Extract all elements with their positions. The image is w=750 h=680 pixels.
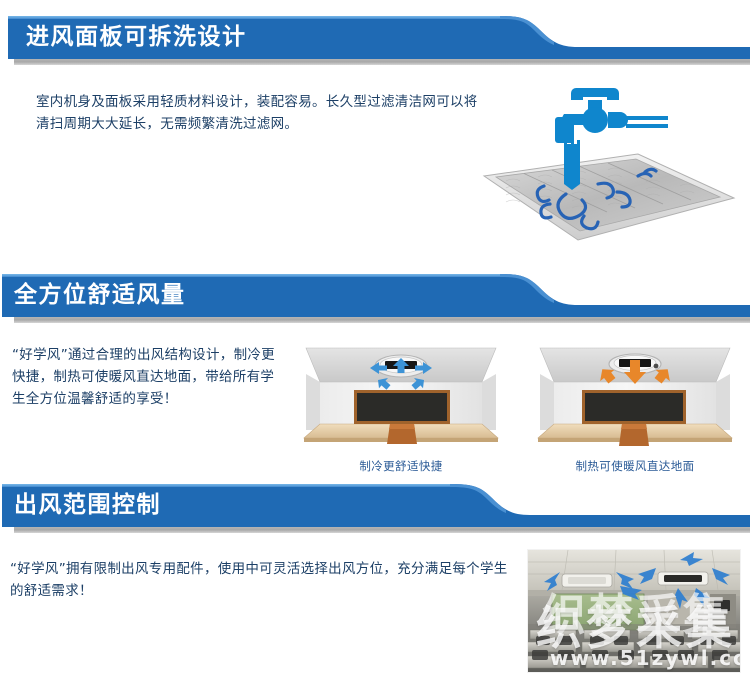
section-banner-intake-panel: 进风面板可拆洗设计 — [0, 14, 750, 70]
section-title: 进风面板可拆洗设计 — [26, 20, 247, 54]
figure-caption: 制热可使暖风直达地面 — [530, 458, 740, 474]
classroom-photo-with-ceiling-cassettes: 织梦采集 织梦采集 www.51zywl.com — [528, 550, 740, 672]
section-body-text: “好学风”通过合理的出风结构设计，制冷更快捷，制热可使暖风直达地面，带给所有学生… — [12, 344, 280, 410]
classroom-cooling-illustration — [296, 338, 506, 450]
classroom-heating-illustration — [530, 338, 740, 450]
faucet-washing-filter-illustration — [480, 80, 740, 245]
product-feature-page: 进风面板可拆洗设计 室内机身及面板采用轻质材料设计，装配容易。长久型过滤清洁网可… — [0, 0, 750, 680]
section-body-text: 室内机身及面板采用轻质材料设计，装配容易。长久型过滤清洁网可以将清扫周期大大延长… — [36, 91, 491, 135]
section-banner-airflow-range: 出风范围控制 — [0, 482, 750, 538]
section-title: 全方位舒适风量 — [14, 278, 186, 312]
svg-text:织梦采集: 织梦采集 — [542, 590, 730, 641]
figure-caption: 制冷更舒适快捷 — [296, 458, 506, 474]
section-body-text: “好学风”拥有限制出风专用配件，使用中可灵活选择出风方位，充分满足每个学生的舒适… — [10, 558, 520, 602]
section-title: 出风范围控制 — [14, 488, 161, 522]
section-banner-omni-airflow: 全方位舒适风量 — [0, 272, 750, 328]
